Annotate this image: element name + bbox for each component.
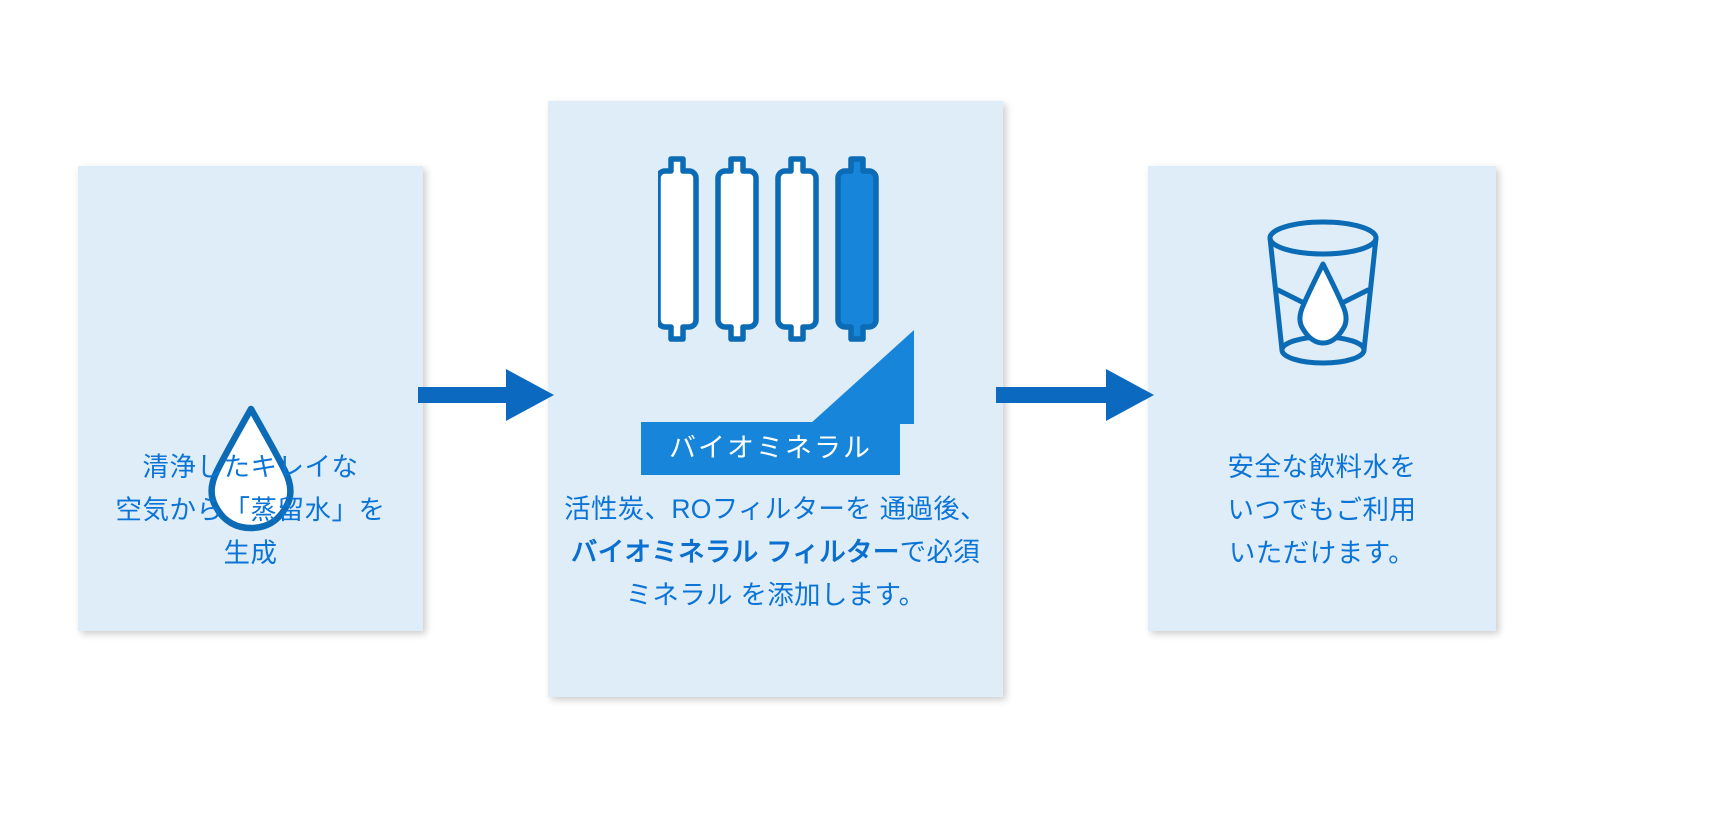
step-card-3: 安全な飲料水を いつでもご利用 いただけます。 xyxy=(1148,166,1496,631)
callout-banner: バイオミネラル xyxy=(641,422,900,475)
callout-label: バイオミネラル xyxy=(641,422,900,475)
step-caption-1: 清浄したキレイな 空気から「蒸留水」を 生成 xyxy=(78,446,423,576)
diagram-canvas: 清浄したキレイな 空気から「蒸留水」を 生成 xyxy=(0,0,1714,830)
step-caption-3: 安全な飲料水を いつでもご利用 いただけます。 xyxy=(1148,446,1496,576)
arrow-right-icon-1 xyxy=(418,367,554,423)
water-glass-icon xyxy=(1258,216,1388,376)
caption-segment-plain-1: 活性炭、ROフィルターを 通過後、 xyxy=(564,494,987,524)
callout-pointer-icon xyxy=(810,330,914,424)
caption-segment-bold: バイオミネラル フィルター xyxy=(571,537,900,567)
filter-cartridges-icon xyxy=(658,151,898,351)
step-caption-2: 活性炭、ROフィルターを 通過後、バイオミネラル フィルターで必須ミネラル を添… xyxy=(558,488,993,617)
step-card-2: 活性炭、ROフィルターを 通過後、バイオミネラル フィルターで必須ミネラル を添… xyxy=(548,101,1003,697)
arrow-right-icon-2 xyxy=(996,367,1154,423)
step-card-1: 清浄したキレイな 空気から「蒸留水」を 生成 xyxy=(78,166,423,631)
